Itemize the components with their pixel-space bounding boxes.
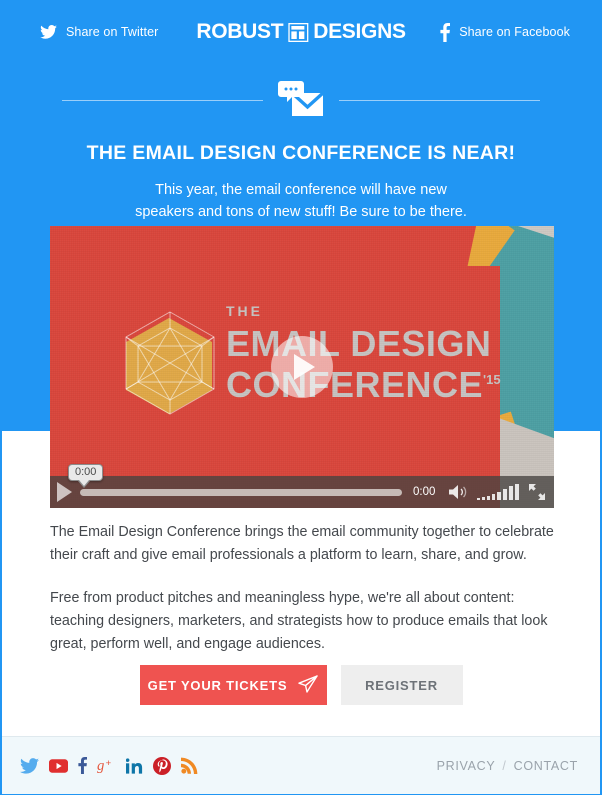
footer-social-icons: g +: [20, 757, 198, 775]
body-paragraph-1: The Email Design Conference brings the e…: [50, 521, 554, 567]
page-title: THE EMAIL DESIGN CONFERENCE IS NEAR!: [2, 142, 600, 165]
envelope-chat-icon: [277, 79, 325, 121]
cta-button-row: GET YOUR TICKETS REGISTER: [2, 665, 600, 705]
video-controls-bar: 0:00: [50, 476, 554, 508]
time-display: 0:00: [413, 486, 441, 498]
google-plus-icon[interactable]: g +: [97, 757, 116, 774]
divider-rule-left: [62, 100, 263, 101]
video-player[interactable]: THE EMAIL DESIGN CONFERENCE'15 0:00: [50, 226, 554, 508]
share-on-facebook-label: Share on Facebook: [459, 25, 570, 39]
linkedin-icon[interactable]: [126, 758, 143, 774]
speaker-icon[interactable]: [449, 484, 469, 500]
hero-subtitle-line2: speakers and tons of new stuff! Be sure …: [135, 204, 467, 220]
scrubber-track[interactable]: [80, 489, 402, 496]
footer: g +: [2, 736, 600, 794]
facebook-f-icon: [440, 23, 450, 42]
register-button[interactable]: REGISTER: [341, 665, 463, 705]
get-your-tickets-button[interactable]: GET YOUR TICKETS: [140, 665, 327, 705]
section-divider: [2, 79, 600, 121]
hero-subtitle: This year, the email conference will hav…: [2, 179, 600, 223]
brand-text-right: DESIGNS: [313, 20, 405, 44]
play-icon[interactable]: [57, 482, 72, 502]
svg-text:g: g: [97, 758, 104, 774]
register-label: REGISTER: [365, 678, 438, 693]
facebook-icon[interactable]: [78, 757, 87, 774]
get-your-tickets-label: GET YOUR TICKETS: [148, 678, 288, 693]
svg-text:+: +: [106, 758, 112, 769]
privacy-link[interactable]: PRIVACY: [437, 759, 496, 773]
twitter-icon[interactable]: [20, 758, 39, 774]
fullscreen-icon[interactable]: [529, 484, 545, 500]
hero-subtitle-line1: This year, the email conference will hav…: [155, 182, 447, 198]
rss-icon[interactable]: [181, 757, 198, 774]
play-triangle: [294, 354, 315, 380]
volume-bars-icon[interactable]: [477, 484, 519, 500]
share-on-twitter-label: Share on Twitter: [66, 25, 158, 39]
share-on-twitter-link[interactable]: Share on Twitter: [40, 25, 158, 39]
youtube-icon[interactable]: [49, 759, 68, 773]
contact-link[interactable]: CONTACT: [514, 759, 578, 773]
divider-rule-right: [339, 100, 540, 101]
top-share-bar: Share on Twitter ROBUST DESIGNS: [2, 1, 600, 63]
brand-text-left: ROBUST: [196, 20, 283, 44]
scrubber-time-tooltip: 0:00: [68, 464, 103, 481]
share-on-facebook-link[interactable]: Share on Facebook: [440, 23, 570, 42]
paper-plane-icon: [298, 675, 318, 696]
body-paragraph-2: Free from product pitches and meaningles…: [50, 587, 554, 656]
brand-logo[interactable]: ROBUST DESIGNS: [196, 20, 405, 44]
pinterest-icon[interactable]: [153, 757, 171, 775]
body-copy: The Email Design Conference brings the e…: [50, 521, 554, 656]
email-template: Share on Twitter ROBUST DESIGNS: [0, 0, 602, 795]
legal-separator: /: [502, 759, 506, 773]
play-circle-icon[interactable]: [271, 336, 333, 398]
footer-legal-links: PRIVACY / CONTACT: [437, 759, 578, 773]
layout-grid-icon: [288, 23, 308, 42]
twitter-bird-icon: [40, 25, 57, 39]
